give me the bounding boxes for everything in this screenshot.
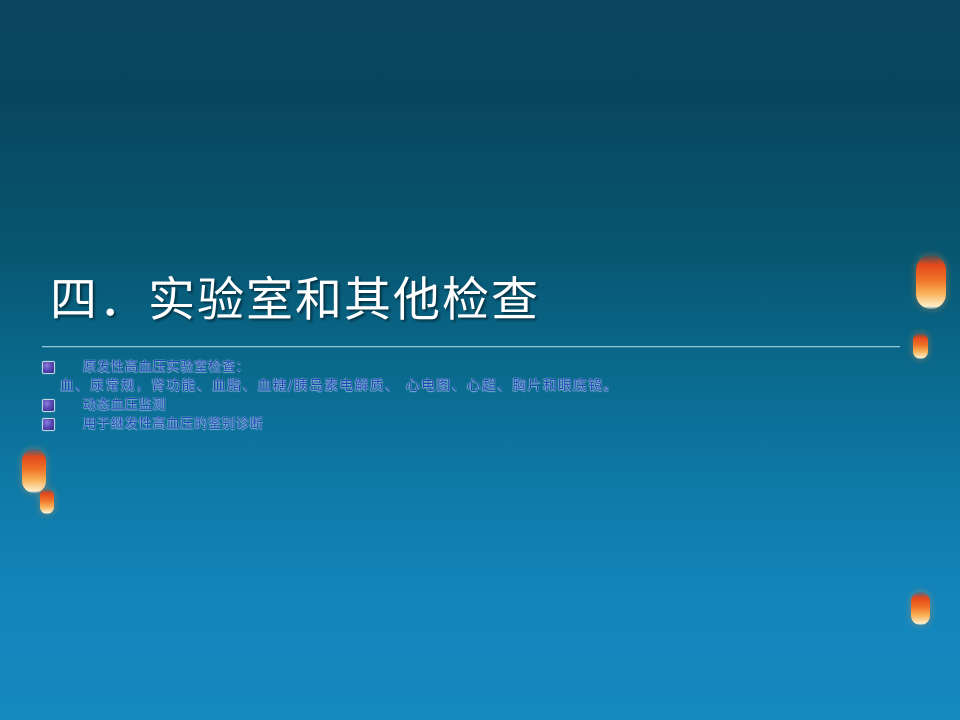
- bullet-item: 用于继发性高血压的鉴别诊断: [42, 415, 922, 433]
- lantern-bottom-right-icon: [911, 592, 930, 625]
- bullet-item-label: 动态血压监测: [83, 396, 166, 414]
- presentation-slide: 四．实验室和其他检查 原发性高血压实验室检查： 血、尿常规，肾功能、血脂、血糖/…: [0, 0, 960, 720]
- body-text-line: 血、尿常规，肾功能、血脂、血糖/胰岛素电解质、 心电图、心超、胸片和眼底镜。: [42, 377, 922, 395]
- bullet-item: 原发性高血压实验室检查：: [42, 358, 922, 376]
- title-divider: [42, 346, 900, 347]
- body-text-label: 血、尿常规，肾功能、血脂、血糖/胰岛素电解质、 心电图、心超、胸片和眼底镜。: [60, 377, 619, 395]
- bullet-square-icon: [42, 418, 55, 431]
- lantern-right-small-icon: [913, 333, 928, 359]
- lantern-right-large-icon: [916, 255, 946, 309]
- bullet-item-label: 用于继发性高血压的鉴别诊断: [83, 415, 264, 433]
- bullet-square-icon: [42, 399, 55, 412]
- bullet-item-label: 原发性高血压实验室检查：: [83, 358, 250, 376]
- lantern-left-large-icon: [22, 449, 46, 493]
- slide-title: 四．实验室和其他检查: [50, 272, 910, 330]
- lantern-left-small-icon: [40, 489, 54, 514]
- bullet-item: 动态血压监测: [42, 396, 922, 414]
- bullet-square-icon: [42, 361, 55, 374]
- slide-body: 原发性高血压实验室检查： 血、尿常规，肾功能、血脂、血糖/胰岛素电解质、 心电图…: [42, 358, 922, 434]
